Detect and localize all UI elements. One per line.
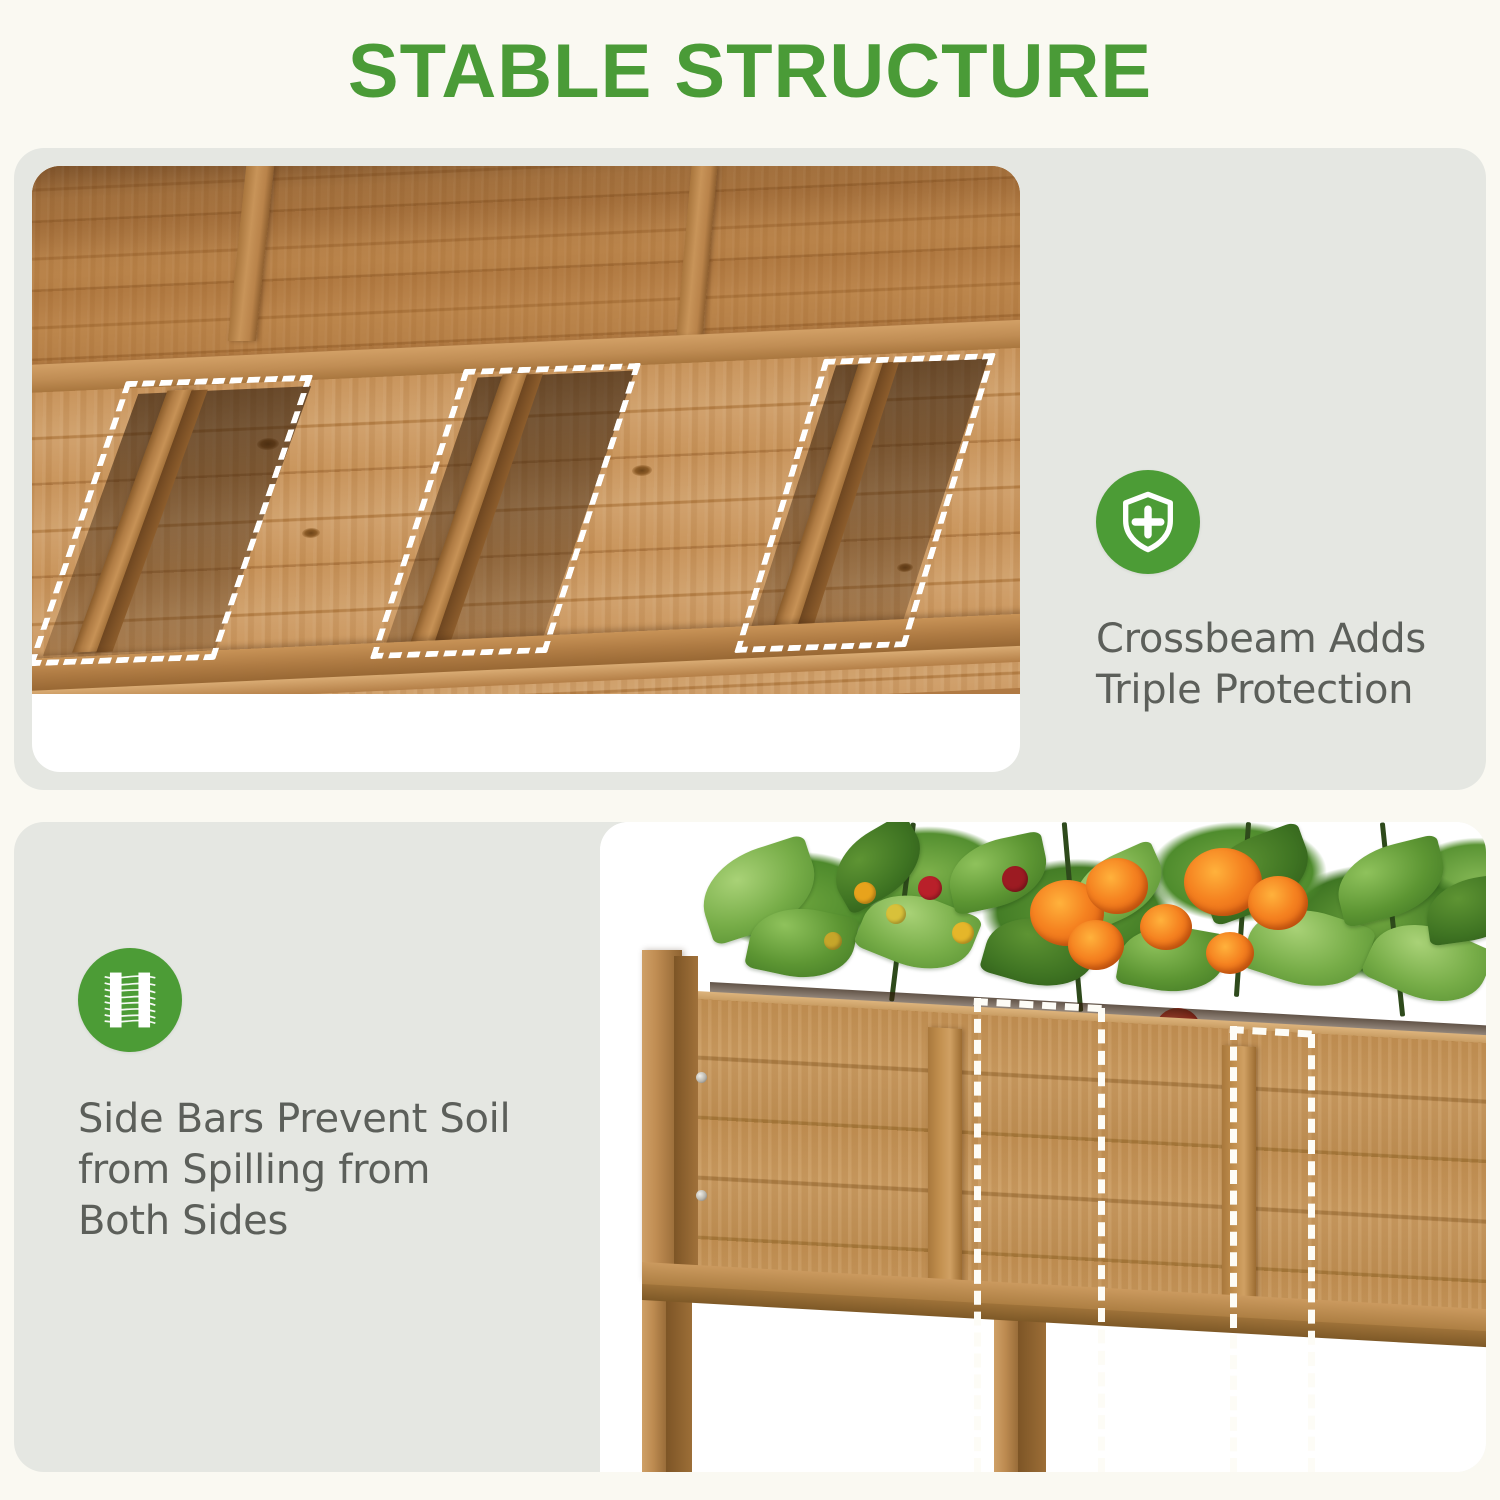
- tomato-fruit: [952, 922, 974, 944]
- marigold-flower: [1086, 858, 1148, 914]
- feature-crossbeam-caption: Crossbeam Adds Triple Protection: [1096, 614, 1466, 716]
- leg-left-face: [666, 1274, 692, 1472]
- side-bar-highlight-b-left-line: [1230, 1026, 1237, 1472]
- side-bar-right: [1222, 1045, 1256, 1303]
- marigold-flower: [1248, 876, 1308, 930]
- feature-crossbeam: Crossbeam Adds Triple Protection: [1096, 470, 1466, 716]
- tomato-fruit: [918, 876, 942, 900]
- side-bar-middle: [928, 1027, 962, 1287]
- page-title: STABLE STRUCTURE: [0, 34, 1500, 110]
- leg-middle-face: [1018, 1300, 1046, 1472]
- shield-plus-icon: [1096, 470, 1200, 574]
- feature-side-bars: Side Bars Prevent Soil from Spilling fro…: [78, 948, 578, 1248]
- marigold-flower: [1140, 904, 1192, 950]
- wood-grain-texture: [678, 998, 1486, 1312]
- feature-side-bars-caption: Side Bars Prevent Soil from Spilling fro…: [78, 1094, 578, 1248]
- panel-crossbeam: Crossbeam Adds Triple Protection: [14, 148, 1486, 790]
- tomato-fruit: [886, 904, 906, 924]
- screw: [696, 1072, 707, 1083]
- marigold-flower: [1068, 920, 1124, 970]
- wood-side-bars-icon: [78, 948, 182, 1052]
- corner-post-face: [674, 956, 698, 1282]
- raised-planter-photo: [600, 822, 1486, 1472]
- panel-side-bars: Side Bars Prevent Soil from Spilling fro…: [14, 822, 1486, 1472]
- planter-underside-image-card: [32, 166, 1020, 772]
- screw: [696, 1190, 707, 1201]
- planter-box-front: [678, 998, 1486, 1312]
- tomato-fruit: [1002, 866, 1028, 892]
- side-bar-highlight-b-right-line: [1308, 1034, 1315, 1472]
- side-bar-highlight-left-line: [974, 998, 981, 1472]
- side-bar-highlight-right-line: [1098, 1008, 1105, 1472]
- tomato-fruit: [824, 932, 842, 950]
- marigold-flower: [1206, 932, 1254, 974]
- tomato-fruit: [854, 882, 876, 904]
- raised-planter-image-card: [600, 822, 1486, 1472]
- planter-underside-photo: [32, 166, 1020, 694]
